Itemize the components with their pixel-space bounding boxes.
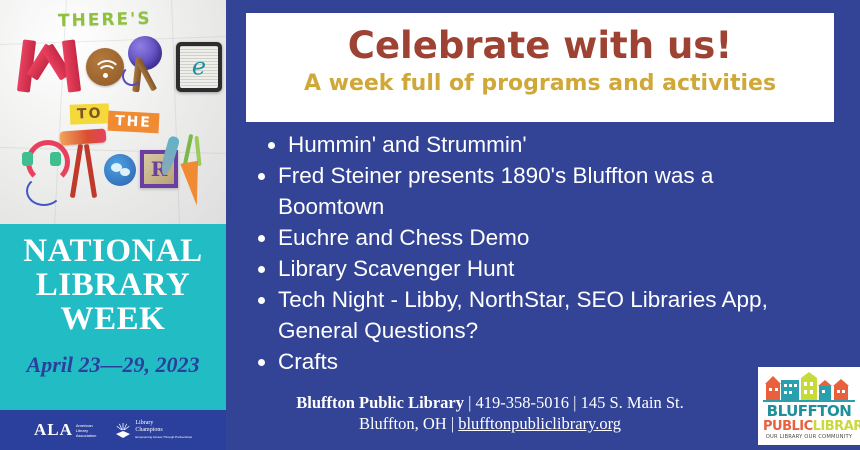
bullet-icon (258, 359, 265, 366)
nlw-title-line-2: LIBRARY (0, 268, 226, 302)
headphone-cord (26, 176, 62, 206)
library-champions-text: Library Champions Empowering Access Thro… (135, 420, 192, 441)
bluffton-public-library-logo: BLUFFTON PUBLICLIBRARY OUR LIBRARY OUR C… (758, 367, 860, 445)
telescope-icon (60, 128, 107, 145)
ereader-letter: e (192, 52, 206, 80)
list-item-label: Hummin' and Strummin' (288, 132, 527, 157)
photo-word-theres: THERE'S (58, 9, 152, 31)
headphone-pad-left (22, 152, 33, 166)
speech-bubble-badge-icon (104, 154, 136, 186)
nlw-title-line-3: WEEK (0, 302, 226, 336)
list-item-label: Tech Night - Libby, NorthStar, SEO Libra… (278, 287, 768, 312)
library-name: Bluffton Public Library (296, 393, 464, 412)
photo-word-more: e (16, 34, 216, 96)
footer-contact-info: Bluffton Public Library | 419-358-5016 |… (240, 392, 740, 434)
yarn-strand-icon (122, 66, 142, 86)
library-website-link[interactable]: blufftonpubliclibrary.org (458, 414, 621, 433)
right-panel: Celebrate with us! A week full of progra… (226, 0, 860, 450)
bpl-name-public-library: PUBLICLIBRARY (763, 419, 855, 433)
poster-canvas: THERE'S e (0, 0, 860, 450)
list-item: Tech Night - Libby, NorthStar, SEO Libra… (242, 285, 852, 315)
letter-m-ribbon-icon (20, 40, 78, 92)
letter-r-yarn-icon (120, 36, 172, 94)
list-item-label: General Questions? (278, 318, 478, 343)
ala-wordmark: ALA (34, 420, 73, 440)
champions-tagline: Empowering Access Through Partnerships (135, 435, 192, 439)
library-city: Bluffton, OH | (359, 414, 458, 433)
wifi-dot (103, 73, 108, 78)
bullet-icon (258, 266, 265, 273)
program-list: Hummin' and Strummin' Fred Steiner prese… (242, 130, 852, 378)
ereader-screen: e (180, 46, 218, 88)
theme-photo: THERE'S e (0, 0, 226, 224)
open-book-burst-icon (114, 421, 132, 439)
list-item-continuation: Boomtown (242, 192, 852, 222)
list-item-label: Boomtown (278, 194, 384, 219)
bpl-name-public: PUBLIC (763, 419, 813, 434)
list-item: Library Scavenger Hunt (242, 254, 852, 284)
list-item-label: Crafts (278, 349, 338, 374)
bpl-wordmark: BLUFFTON PUBLICLIBRARY OUR LIBRARY OUR C… (763, 404, 855, 440)
skyline-illustration-icon (763, 372, 855, 402)
page-title: Celebrate with us! (246, 13, 834, 68)
ereader-device-icon: e (176, 42, 222, 92)
library-champions-logo: Library Champions Empowering Access Thro… (114, 420, 192, 441)
bullet-icon (258, 297, 265, 304)
list-item: Euchre and Chess Demo (242, 223, 852, 253)
nlw-title-line-1: NATIONAL (0, 224, 226, 268)
bullet-icon (258, 173, 265, 180)
ala-subtext: American Library Association (76, 423, 96, 438)
page-subtitle: A week full of programs and activities (246, 68, 834, 98)
ala-subtext-line-3: Association (76, 433, 96, 438)
bpl-name-bluffton: BLUFFTON (763, 404, 855, 419)
bullet-icon (258, 235, 265, 242)
headline-box: Celebrate with us! A week full of progra… (246, 13, 834, 122)
list-item: Hummin' and Strummin' (242, 130, 852, 160)
champions-line-1: Library (135, 420, 153, 426)
bullet-icon (268, 142, 275, 149)
sponsor-logo-strip: ALA American Library Association (0, 410, 226, 450)
list-item-label: Euchre and Chess Demo (278, 225, 529, 250)
headphone-pad-right (50, 152, 61, 166)
list-item-label: Library Scavenger Hunt (278, 256, 514, 281)
nlw-dates: April 23—29, 2023 (0, 336, 226, 378)
photo-word-story: R (14, 126, 220, 212)
left-panel: THERE'S e (0, 0, 226, 450)
bpl-tagline: OUR LIBRARY OUR COMMUNITY (763, 434, 855, 440)
library-phone-address: | 419-358-5016 | 145 S. Main St. (464, 393, 684, 412)
wifi-symbol-icon (86, 48, 124, 86)
bpl-name-library: LIBRARY (813, 419, 860, 434)
champions-line-2: Champions (135, 427, 162, 433)
list-item: Fred Steiner presents 1890's Bluffton wa… (242, 161, 852, 191)
speech-bubble-small (120, 168, 130, 176)
list-item-continuation: General Questions? (242, 316, 852, 346)
list-item-label: Fred Steiner presents 1890's Bluffton wa… (278, 163, 713, 188)
national-library-week-band: NATIONAL LIBRARY WEEK April 23—29, 2023 (0, 224, 226, 410)
ala-logo: ALA American Library Association (34, 420, 96, 440)
carrot-icon (180, 161, 205, 207)
photo-word-to: TO (70, 103, 110, 124)
